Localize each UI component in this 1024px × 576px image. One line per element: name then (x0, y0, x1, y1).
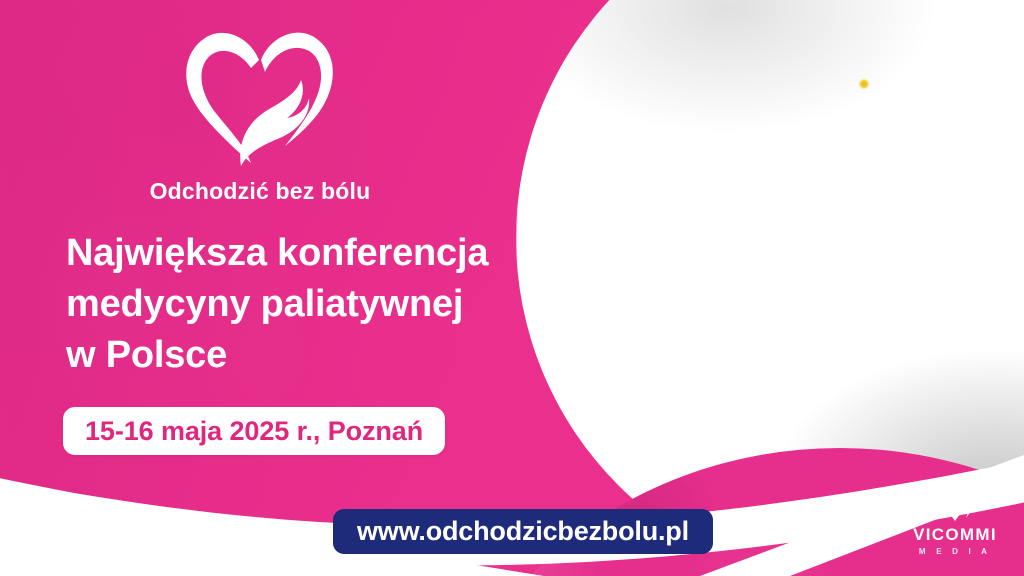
sponsor-logo: VICOMMI M E D I A (897, 478, 1013, 556)
headline-line-1: Największa konferencja (66, 228, 566, 279)
event-date-label: 15-16 maja 2025 r., Poznań (85, 416, 423, 447)
vicommi-v-icon (932, 478, 978, 522)
brush-stroke-heart-icon (175, 20, 345, 170)
sponsor-name: VICOMMI (897, 525, 1013, 545)
website-url-badge[interactable]: www.odchodzicbezbolu.pl (333, 509, 713, 554)
brand-logo: Odchodzić bez bólu (140, 20, 380, 205)
sponsor-subtitle: M E D I A (897, 547, 1013, 556)
brand-logo-text: Odchodzić bez bólu (140, 178, 380, 205)
headline-line-3: w Polsce (66, 330, 566, 381)
headline-line-2: medycyny paliatywnej (66, 279, 566, 330)
page-title: Największa konferencja medycyny paliatyw… (66, 228, 566, 381)
event-date-badge: 15-16 maja 2025 r., Poznań (63, 407, 445, 455)
website-url-label: www.odchodzicbezbolu.pl (357, 516, 689, 547)
conference-promo-banner: Odchodzić bez bólu Największa konferencj… (0, 0, 1024, 576)
